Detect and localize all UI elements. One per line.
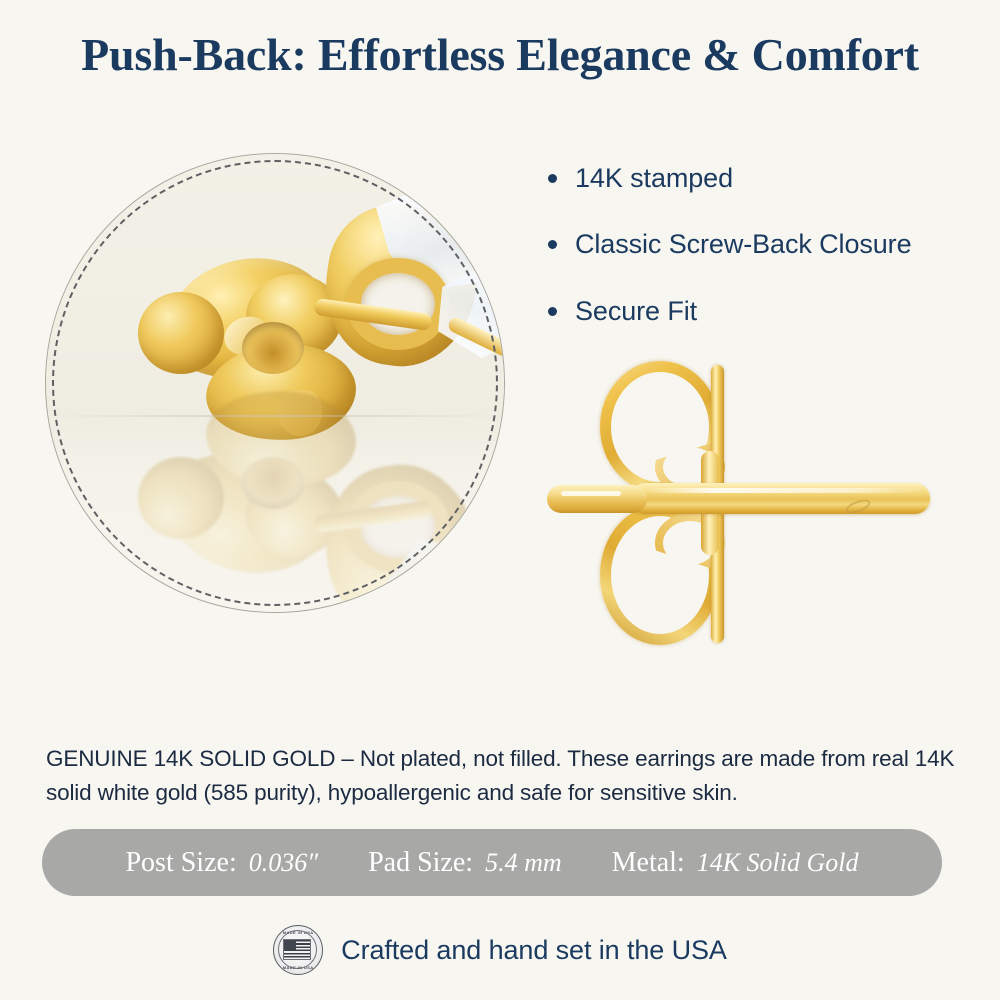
bullet-dot-icon: [548, 240, 557, 249]
spec-label: Pad Size:: [368, 847, 473, 879]
flag-canton: [284, 940, 296, 950]
post-tip: [547, 485, 647, 513]
spec-post-size: Post Size: 0.036″: [125, 847, 318, 879]
us-flag-icon: [283, 939, 311, 960]
list-item: Secure Fit: [548, 295, 988, 327]
page-title: Push-Back: Effortless Elegance & Comfort: [0, 28, 1000, 81]
spec-value: 5.4 mm: [485, 848, 562, 878]
spec-pad-size: Pad Size: 5.4 mm: [368, 847, 562, 879]
post-tip-highlight: [561, 491, 621, 496]
photo-pushback-lobe-left: [138, 292, 224, 374]
spec-label: Metal:: [612, 847, 685, 879]
photo-outer-ring: [45, 153, 505, 613]
earring-post-graphic: [525, 355, 955, 650]
seal-bottom-text: MADE IN USA: [274, 965, 322, 970]
feature-label: 14K stamped: [575, 162, 733, 194]
photo-surface-line: [46, 415, 504, 417]
post-shaft-highlight: [645, 488, 920, 493]
description-text: GENUINE 14K SOLID GOLD – Not plated, not…: [46, 742, 958, 810]
made-in-usa-seal-icon: MADE IN USA MADE IN USA: [273, 925, 323, 975]
feature-list: 14K stamped Classic Screw-Back Closure S…: [548, 162, 988, 361]
photo-image: [46, 154, 504, 612]
photo-pushback-hole: [242, 322, 304, 374]
spec-value: 14K Solid Gold: [697, 848, 859, 878]
feature-label: Secure Fit: [575, 295, 697, 327]
seal-top-text: MADE IN USA: [274, 930, 322, 935]
list-item: Classic Screw-Back Closure: [548, 228, 988, 260]
photo-pushback-tail: [278, 390, 322, 436]
feature-label: Classic Screw-Back Closure: [575, 228, 911, 260]
footer: MADE IN USA MADE IN USA Crafted and hand…: [0, 925, 1000, 975]
spec-label: Post Size:: [125, 847, 236, 879]
spec-value: 0.036″: [249, 848, 318, 878]
bullet-dot-icon: [548, 307, 557, 316]
specs-bar: Post Size: 0.036″ Pad Size: 5.4 mm Metal…: [42, 829, 942, 896]
bullet-dot-icon: [548, 174, 557, 183]
spec-metal: Metal: 14K Solid Gold: [612, 847, 859, 879]
footer-label: Crafted and hand set in the USA: [341, 935, 727, 966]
product-photo-circle: [45, 153, 505, 613]
list-item: 14K stamped: [548, 162, 988, 194]
